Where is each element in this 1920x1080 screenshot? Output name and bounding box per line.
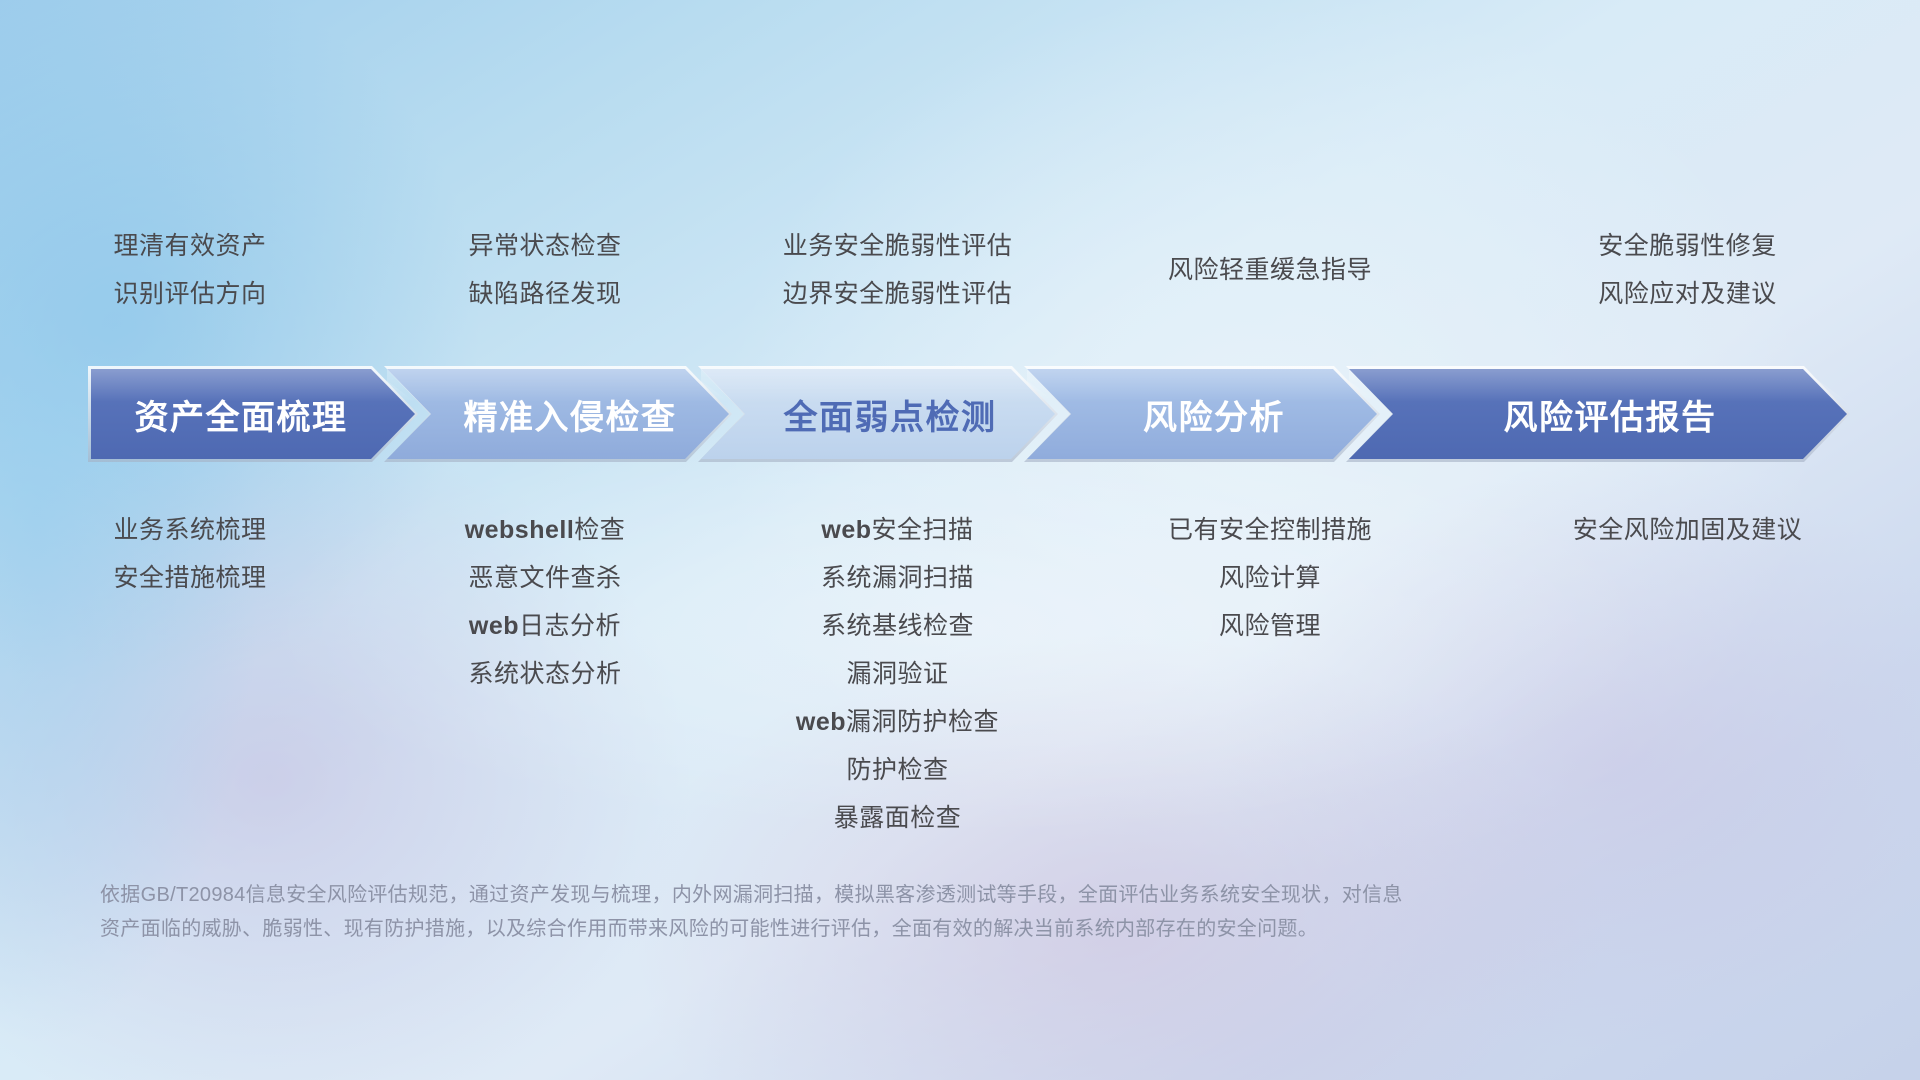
bottom-note-line: 漏洞验证 [846,650,948,698]
process-step-risk-report[interactable]: 风险评估报告 [1346,366,1850,462]
process-step-asset-inventory[interactable]: 资产全面梳理 [88,366,418,462]
bottom-note-latin: web [796,708,846,736]
bottom-note-cjk: 检查 [574,516,625,544]
bottom-note-line: 防护检查 [846,746,948,794]
top-note-column-risk-report: 安全脆弱性修复风险应对及建议 [1455,222,1920,318]
bottom-note-cjk: 安全风险加固及建议 [1573,516,1803,544]
bottom-note-column-asset-inventory: 业务系统梳理安全措施梳理 [0,506,380,602]
bottom-note-cjk: 风险管理 [1219,612,1321,640]
top-note-line: 业务安全脆弱性评估 [783,222,1013,270]
process-chevron-band: 资产全面梳理精准入侵检查全面弱点检测风险分析风险评估报告 [88,366,1850,462]
process-step-label: 风险评估报告 [1504,390,1717,439]
bottom-note-line: 系统基线检查 [821,602,974,650]
bottom-note-column-weakness-detection: web安全扫描系统漏洞扫描系统基线检查漏洞验证web漏洞防护检查防护检查暴露面检… [710,506,1085,842]
bottom-note-line: 安全措施梳理 [113,554,266,602]
footer-line: 依据GB/T20984信息安全风险评估规范，通过资产发现与梳理，内外网漏洞扫描，… [100,878,1740,912]
footer-line: 资产面临的威胁、脆弱性、现有防护措施，以及综合作用而带来风险的可能性进行评估，全… [100,912,1740,946]
top-note-line: 边界安全脆弱性评估 [783,270,1013,318]
process-step-label: 精准入侵检查 [464,390,677,439]
bottom-note-column-risk-report: 安全风险加固及建议 [1455,506,1920,554]
process-step-label: 资产全面梳理 [135,390,348,439]
bottom-note-cjk: 暴露面检查 [834,804,962,832]
bottom-note-cjk: 漏洞验证 [846,660,948,688]
process-step-risk-analysis[interactable]: 风险分析 [1024,366,1380,462]
bottom-note-latin: web [821,516,871,544]
top-note-line: 风险轻重缓急指导 [1168,246,1372,294]
bottom-annotations-row: 业务系统梳理安全措施梳理webshell检查恶意文件查杀web日志分析系统状态分… [0,506,1920,826]
bottom-note-column-risk-analysis: 已有安全控制措施风险计算风险管理 [1085,506,1455,650]
bottom-note-latin: web [469,612,519,640]
diagram-stage: 理清有效资产识别评估方向异常状态检查缺陷路径发现业务安全脆弱性评估边界安全脆弱性… [0,0,1920,1080]
bottom-note-cjk: 漏洞防护检查 [846,708,999,736]
bottom-note-cjk: 系统基线检查 [821,612,974,640]
top-annotations-row: 理清有效资产识别评估方向异常状态检查缺陷路径发现业务安全脆弱性评估边界安全脆弱性… [0,222,1920,332]
bottom-note-cjk: 系统漏洞扫描 [821,564,974,592]
top-note-line: 安全脆弱性修复 [1598,222,1777,270]
top-note-line: 识别评估方向 [113,270,266,318]
bottom-note-line: 恶意文件查杀 [468,554,621,602]
top-note-line: 理清有效资产 [113,222,266,270]
top-note-column-weakness-detection: 业务安全脆弱性评估边界安全脆弱性评估 [710,222,1085,318]
bottom-note-line: 已有安全控制措施 [1168,506,1372,554]
bottom-note-line: 业务系统梳理 [113,506,266,554]
top-note-line: 异常状态检查 [468,222,621,270]
top-note-line: 风险应对及建议 [1598,270,1777,318]
bottom-note-cjk: 恶意文件查杀 [468,564,621,592]
bottom-note-cjk: 已有安全控制措施 [1168,516,1372,544]
top-note-column-risk-analysis: 风险轻重缓急指导 [1085,222,1455,294]
bottom-note-line: web漏洞防护检查 [796,698,999,746]
bottom-note-cjk: 日志分析 [519,612,621,640]
bottom-note-line: web安全扫描 [821,506,973,554]
top-note-line: 缺陷路径发现 [468,270,621,318]
bottom-note-cjk: 系统状态分析 [468,660,621,688]
process-step-intrusion-check[interactable]: 精准入侵检查 [384,366,732,462]
bottom-note-line: web日志分析 [469,602,621,650]
top-note-column-intrusion-check: 异常状态检查缺陷路径发现 [380,222,710,318]
bottom-note-cjk: 安全措施梳理 [113,564,266,592]
process-step-label: 风险分析 [1143,390,1285,439]
bottom-note-line: 暴露面检查 [834,794,962,842]
bottom-note-line: 系统状态分析 [468,650,621,698]
bottom-note-line: 风险计算 [1219,554,1321,602]
top-note-column-asset-inventory: 理清有效资产识别评估方向 [0,222,380,318]
bottom-note-line: 风险管理 [1219,602,1321,650]
footer-description: 依据GB/T20984信息安全风险评估规范，通过资产发现与梳理，内外网漏洞扫描，… [100,878,1740,946]
bottom-note-latin: webshell [465,516,575,544]
process-step-weakness-detection[interactable]: 全面弱点检测 [698,366,1058,462]
bottom-note-cjk: 业务系统梳理 [113,516,266,544]
bottom-note-cjk: 防护检查 [846,756,948,784]
process-step-label: 全面弱点检测 [784,390,997,439]
bottom-note-line: 安全风险加固及建议 [1573,506,1803,554]
bottom-note-cjk: 安全扫描 [872,516,974,544]
bottom-note-line: webshell检查 [465,506,626,554]
bottom-note-column-intrusion-check: webshell检查恶意文件查杀web日志分析系统状态分析 [380,506,710,698]
bottom-note-cjk: 风险计算 [1219,564,1321,592]
bottom-note-line: 系统漏洞扫描 [821,554,974,602]
